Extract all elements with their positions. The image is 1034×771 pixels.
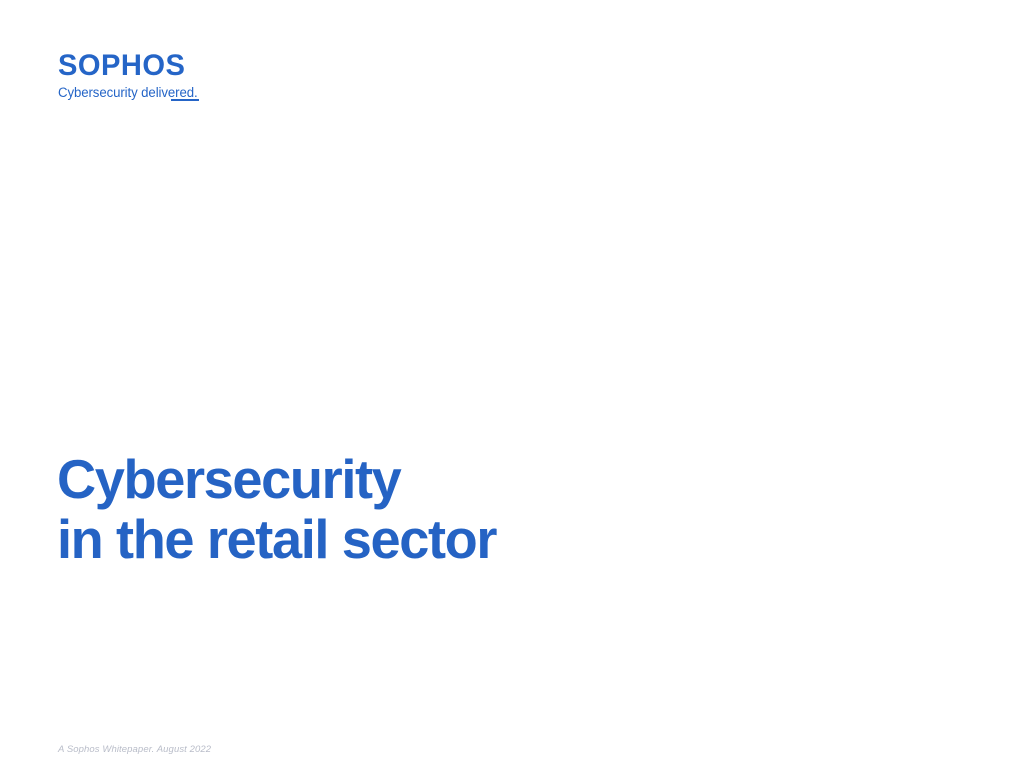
sophos-logo: SOPHOS Cybersecurity delivered.: [58, 51, 358, 101]
page-title-line-2: in the retail sector: [57, 509, 806, 569]
whitepaper-cover-page: SOPHOS Cybersecurity delivered. Cybersec…: [0, 0, 1034, 771]
sophos-tagline-group: Cybersecurity delivered.: [58, 85, 200, 101]
page-title: Cybersecurity in the retail sector: [57, 449, 817, 569]
footer-credit: A Sophos Whitepaper. August 2022: [58, 744, 211, 755]
page-title-line-1: Cybersecurity: [57, 449, 806, 509]
sophos-wordmark: SOPHOS: [58, 51, 349, 81]
sophos-accent-mark-icon: [171, 99, 199, 101]
